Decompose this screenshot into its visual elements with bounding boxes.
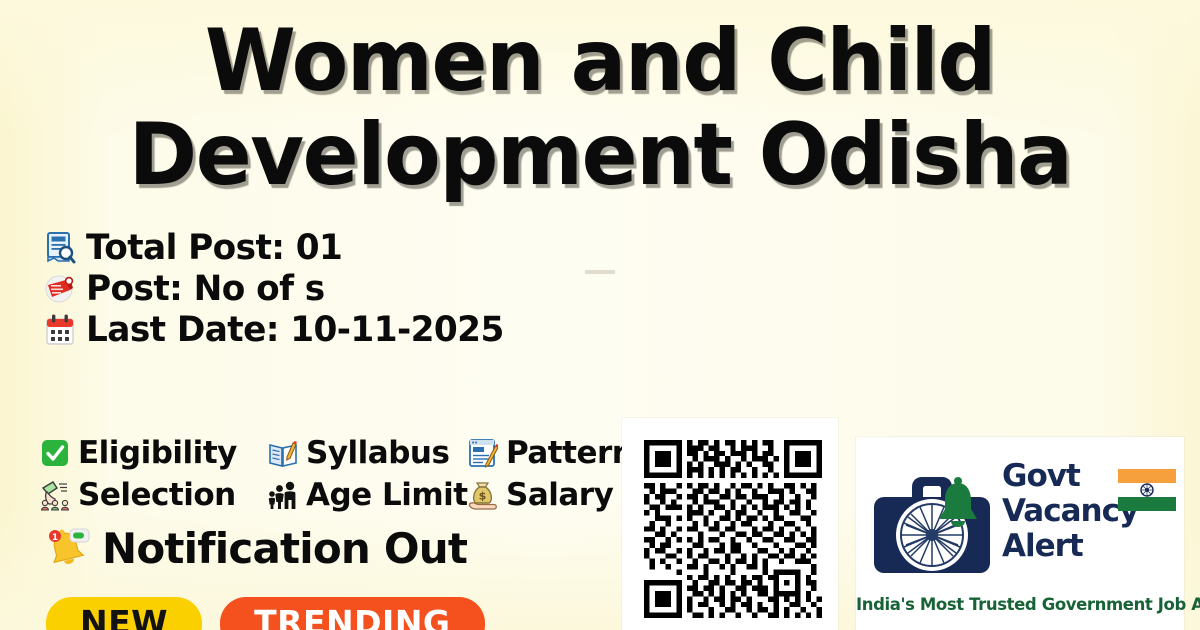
logo-wordmark: Govt Vacancy Alert <box>1002 459 1114 564</box>
news-stamp-icon <box>44 272 76 306</box>
logo-word-vacancy: Vacancy <box>1002 494 1114 529</box>
badge-new[interactable]: NEW <box>46 597 202 630</box>
india-flag-icon <box>1118 469 1176 511</box>
money-bag-icon: $ <box>468 479 498 511</box>
feature-grid: Eligibility Sy <box>40 432 700 516</box>
bell-icon: 1 <box>44 526 90 572</box>
feature-label-eligibility: Eligibility <box>78 436 237 470</box>
logo-tagline: India's Most Trusted Government Job Aler… <box>856 595 1184 615</box>
selection-hand-icon <box>40 479 70 511</box>
notification-out-row: 1 Notification Out <box>44 526 467 572</box>
feature-syllabus: Syllabus <box>268 436 468 470</box>
qr-code-card[interactable] <box>622 418 838 630</box>
document-search-icon <box>44 231 76 265</box>
feature-label-syllabus: Syllabus <box>306 436 449 470</box>
feature-label-selection: Selection <box>78 478 236 512</box>
job-alert-poster: Women and Child Development Odisha Total… <box>0 0 1200 630</box>
qr-code[interactable] <box>644 440 822 618</box>
exam-paper-icon <box>468 437 498 469</box>
check-mark-icon <box>40 437 70 469</box>
svg-text:$: $ <box>479 490 487 503</box>
logo-main: Govt Vacancy Alert <box>868 455 1172 583</box>
badge-group: NEW TRENDING <box>46 597 485 630</box>
notification-out-text: Notification Out <box>102 526 467 572</box>
feature-label-salary: Salary <box>506 478 613 512</box>
page-title: Women and Child Development Odisha <box>0 14 1200 202</box>
briefcase-chakra-bell-icon <box>868 467 996 579</box>
info-text-last-date: Last Date: 10-11-2025 <box>86 311 504 349</box>
info-row-last-date: Last Date: 10-11-2025 <box>44 310 512 350</box>
badge-trending[interactable]: TRENDING <box>220 597 484 630</box>
calendar-icon <box>44 313 76 347</box>
info-text-post: Post: No of s <box>86 270 325 308</box>
feature-label-age-limit: Age Limit <box>306 478 468 512</box>
logo-word-alert: Alert <box>1002 529 1114 564</box>
feature-row-2: Selection Age Limit <box>40 474 700 516</box>
feature-label-pattern: Pattern <box>506 436 633 470</box>
logo-word-govt: Govt <box>1002 459 1114 494</box>
brand-logo-card: Govt Vacancy Alert <box>856 437 1184 630</box>
open-book-icon <box>268 437 298 469</box>
feature-selection: Selection <box>40 478 268 512</box>
title-line-1: Women and Child <box>24 14 1176 108</box>
feature-row-1: Eligibility Sy <box>40 432 700 474</box>
info-list: Total Post: 01 Post: No of s <box>44 228 512 351</box>
title-line-2: Development Odisha <box>24 108 1176 202</box>
people-icon <box>268 479 298 511</box>
info-text-total-post: Total Post: 01 <box>86 229 342 267</box>
svg-text:1: 1 <box>52 533 58 543</box>
feature-eligibility: Eligibility <box>40 436 268 470</box>
image-artifact <box>585 270 615 274</box>
feature-age-limit: Age Limit <box>268 478 468 512</box>
info-row-total-post: Total Post: 01 <box>44 228 512 268</box>
info-row-post: Post: No of s <box>44 269 512 309</box>
